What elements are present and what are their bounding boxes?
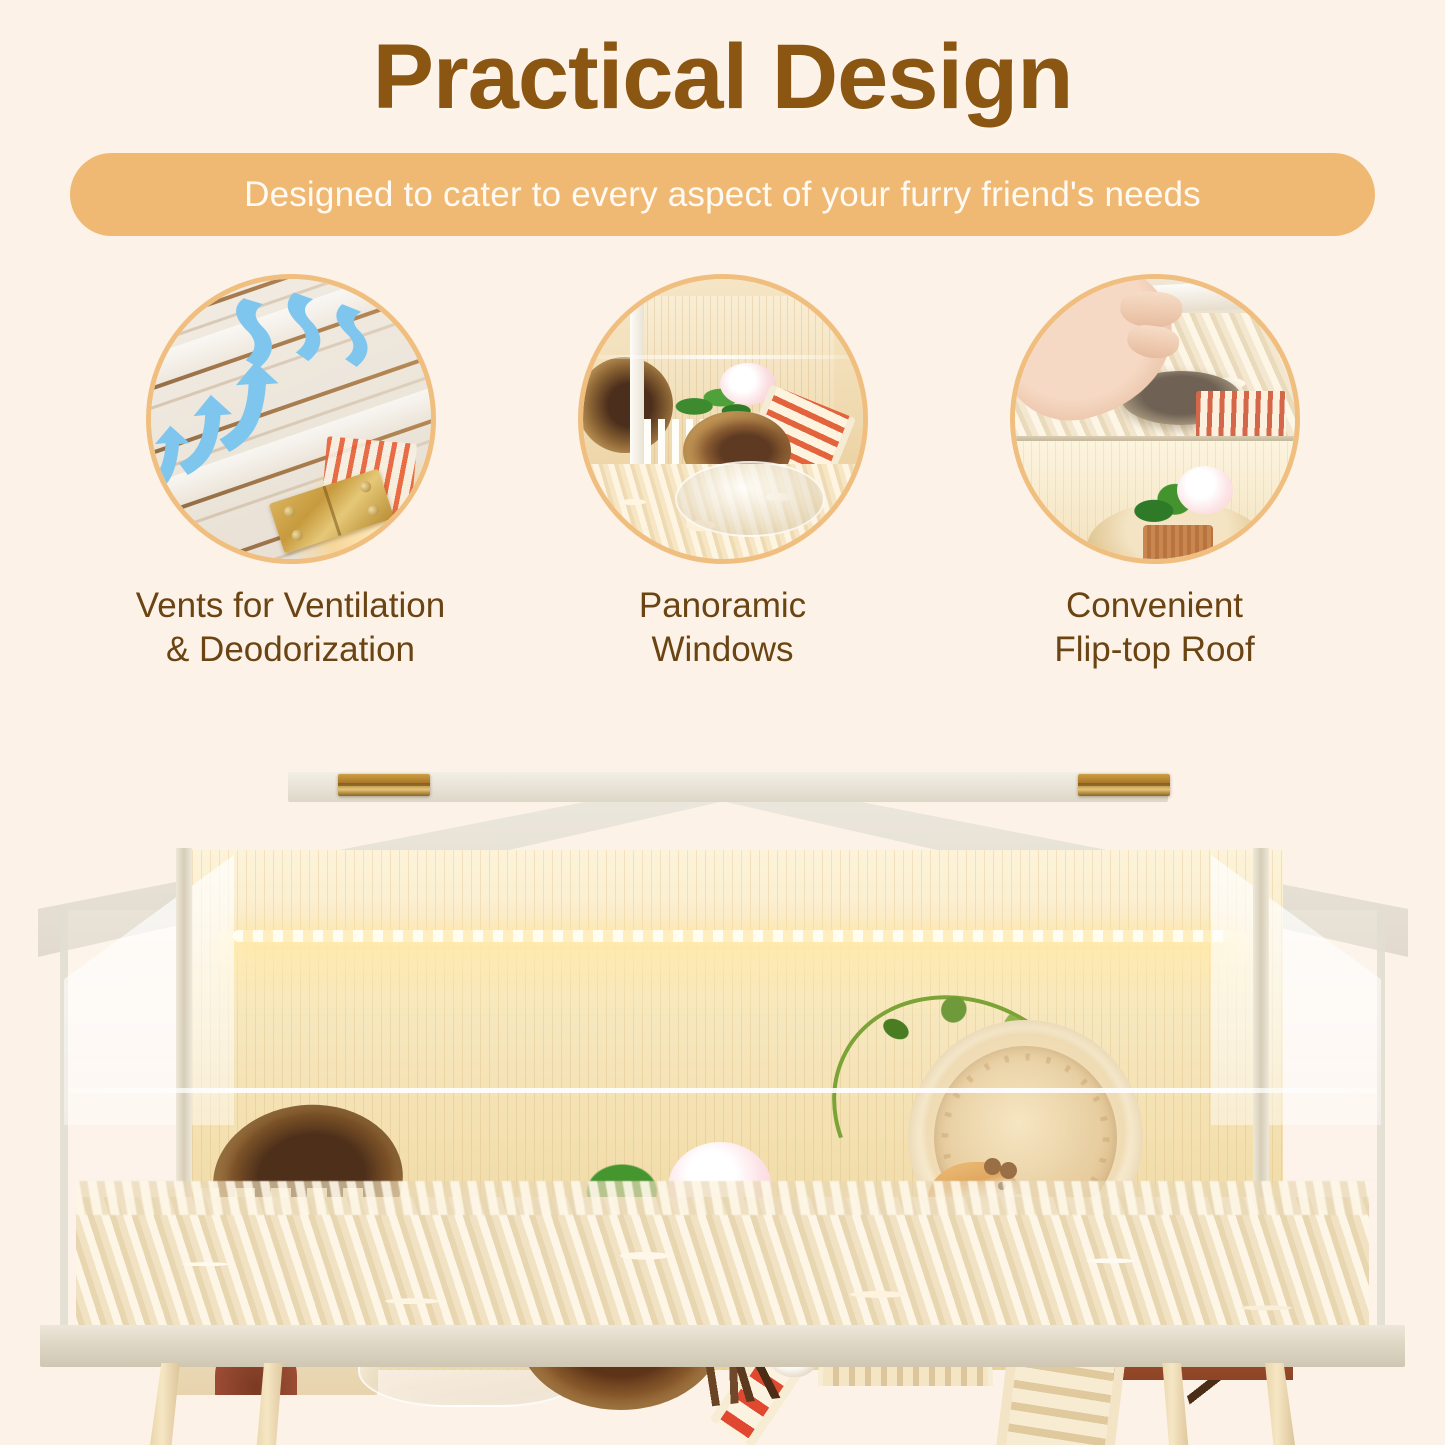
hero-product-image xyxy=(0,760,1445,1445)
subtitle-banner: Designed to cater to every aspect of you… xyxy=(70,153,1375,236)
feature-caption-flip-top: Convenient Flip-top Roof xyxy=(1054,584,1254,673)
brass-hinge-icon xyxy=(338,774,430,796)
brass-hinge-icon xyxy=(1078,774,1170,796)
feature-row: Vents for Ventilation & Deodorization Pa… xyxy=(0,274,1445,673)
feature-vents: Vents for Ventilation & Deodorization xyxy=(116,274,466,673)
led-light-strip xyxy=(233,930,1233,942)
acrylic-seam xyxy=(68,1088,1377,1093)
feature-image-vents xyxy=(146,274,436,564)
feature-flip-top: Convenient Flip-top Roof xyxy=(980,274,1330,673)
feature-image-flip-top xyxy=(1010,274,1300,564)
feature-caption-windows: Panoramic Windows xyxy=(639,584,806,673)
feature-windows: Panoramic Windows xyxy=(548,274,898,673)
rose-icon xyxy=(1177,466,1233,514)
base-frame xyxy=(40,1325,1405,1367)
feature-caption-vents: Vents for Ventilation & Deodorization xyxy=(136,584,445,673)
vent-scene xyxy=(151,279,431,559)
striped-ladder-icon xyxy=(1196,391,1286,439)
feature-image-windows xyxy=(578,274,868,564)
page-title: Practical Design xyxy=(0,0,1445,135)
subtitle-text: Designed to cater to every aspect of you… xyxy=(244,175,1201,215)
glass-bath-house-icon xyxy=(675,461,825,537)
wooden-leg xyxy=(150,1363,180,1445)
acrylic-enclosure xyxy=(60,910,1385,1365)
